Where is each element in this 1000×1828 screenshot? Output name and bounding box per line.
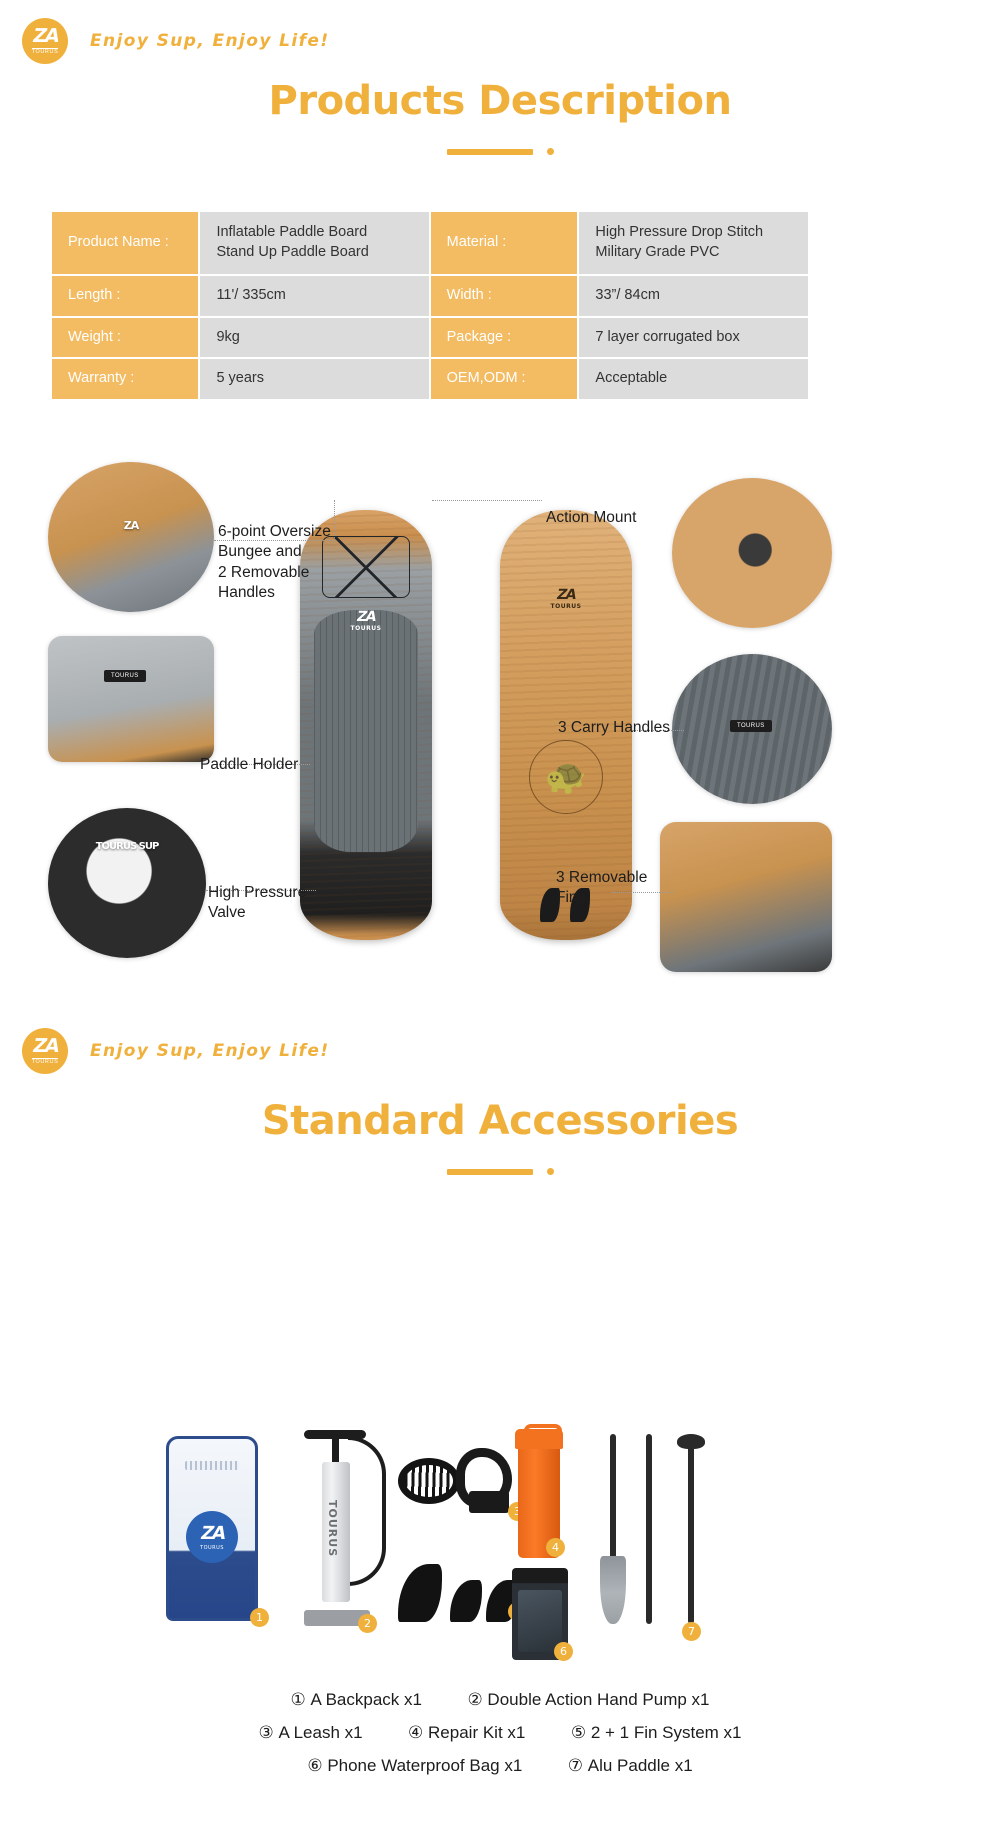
caption-item-3-num: ③ <box>258 1723 273 1743</box>
valve-cap-label: TOURUS SUP <box>96 841 159 852</box>
pump-brand-text: TOURUS <box>326 1500 339 1557</box>
accessory-badge-2: 2 <box>358 1614 377 1633</box>
board-feature-diagram: ZA TOURUS TOURUS SUP TOURUS ZA TOURUS ZA… <box>0 440 1000 1000</box>
tourus-logo-icon-2: ZA TOURUS <box>22 1028 68 1074</box>
spec-key-warranty: Warranty : <box>52 359 198 399</box>
detail-photo-action-mount <box>672 478 832 628</box>
brand-tagline: Enjoy Sup, Enjoy Life! <box>90 31 329 51</box>
spec-key-oem-odm: OEM,ODM : <box>431 359 578 399</box>
brand-tagline-2: Enjoy Sup, Enjoy Life! <box>90 1041 329 1061</box>
spec-key-material: Material : <box>431 212 578 274</box>
paddle-mid-section <box>646 1434 652 1624</box>
board-detail-logo: ZA <box>124 519 139 532</box>
caption-item-3-label: A Leash x1 <box>278 1723 362 1743</box>
divider-dot-2 <box>547 1168 554 1175</box>
pump-hose <box>348 1436 386 1586</box>
spec-value-warranty: 5 years <box>200 359 428 399</box>
paddle-shaft <box>610 1434 616 1562</box>
spec-value-weight: 9kg <box>200 318 428 358</box>
accessories-photo-row: ZA TOURUS 1 TOURUS 2 3 5 <box>0 1430 1000 1680</box>
bungee-cords-graphic <box>322 536 410 598</box>
caption-item-5-label: 2 + 1 Fin System x1 <box>591 1723 742 1743</box>
caption-item-6-num: ⑥ <box>307 1756 322 1776</box>
board-back-logo-text: TOURUS <box>551 604 582 610</box>
accessory-backpack: ZA TOURUS 1 <box>166 1436 258 1621</box>
callout-high-pressure-valve: High Pressure Valve <box>208 883 306 924</box>
turtle-graphic-icon: 🐢 <box>529 740 603 814</box>
accessory-badge-6: 6 <box>554 1642 573 1661</box>
brand-bar-middle: ZA TOURUS Enjoy Sup, Enjoy Life! <box>22 1028 329 1074</box>
spec-value-package: 7 layer corrugated box <box>579 318 808 358</box>
table-row: Product Name : Inflatable Paddle Board S… <box>52 212 808 274</box>
accessories-caption-list: ① A Backpack x1 ② Double Action Hand Pum… <box>0 1690 1000 1789</box>
accessory-paddle-blade <box>600 1434 626 1624</box>
accessory-badge-1: 1 <box>250 1608 269 1627</box>
divider-bar-2 <box>447 1169 533 1175</box>
backpack-logo-text: TOURUS <box>200 1545 224 1551</box>
leash-cuff <box>456 1448 512 1508</box>
paddle-blade <box>600 1556 626 1624</box>
caption-line-3: ⑥ Phone Waterproof Bag x1 ⑦ Alu Paddle x… <box>0 1756 1000 1776</box>
page-title-standard-accessories: Standard Accessories <box>0 1098 1000 1144</box>
backpack-logo: ZA TOURUS <box>186 1511 238 1563</box>
caption-line-2: ③ A Leash x1 ④ Repair Kit x1 ⑤ 2 + 1 Fin… <box>0 1723 1000 1743</box>
callout-carry-handles: 3 Carry Handles <box>558 718 670 738</box>
spec-key-product-name: Product Name : <box>52 212 198 274</box>
board-front-logo-mark: ZA <box>349 610 383 624</box>
detail-photo-fins <box>660 822 832 972</box>
logo-wordmark-2: TOURUS <box>32 1058 59 1066</box>
caption-item-7-label: Alu Paddle x1 <box>588 1756 693 1776</box>
logo-mark: ZA <box>31 27 60 46</box>
caption-line-1: ① A Backpack x1 ② Double Action Hand Pum… <box>0 1690 1000 1710</box>
deck-pad-graphic <box>314 610 418 852</box>
detail-photo-bungee: ZA <box>48 462 214 612</box>
fin-small-1 <box>450 1580 482 1622</box>
accessory-repair-kit: 4 <box>518 1442 560 1558</box>
detail-photo-carry-handle: TOURUS <box>672 654 832 804</box>
accessory-fins: 5 <box>398 1556 530 1622</box>
detail-photo-paddle-holder: TOURUS <box>48 636 214 762</box>
fin-large <box>398 1564 442 1622</box>
spec-value-width: 33”/ 84cm <box>579 276 808 316</box>
backpack-graphic: ZA TOURUS <box>166 1436 258 1621</box>
alu-paddle-graphic <box>600 1434 626 1624</box>
accessory-hand-pump: TOURUS 2 <box>296 1430 382 1626</box>
spec-value-product-name: Inflatable Paddle Board Stand Up Paddle … <box>200 212 428 274</box>
caption-item-4-num: ④ <box>408 1723 423 1743</box>
specification-table: Product Name : Inflatable Paddle Board S… <box>50 210 810 401</box>
backpack-zipper <box>185 1461 239 1470</box>
table-row: Length : 11'/ 335cm Width : 33”/ 84cm <box>52 276 808 316</box>
caption-item-6-label: Phone Waterproof Bag x1 <box>327 1756 522 1776</box>
caption-item-5-num: ⑤ <box>571 1723 586 1743</box>
caption-item-7-num: ⑦ <box>568 1756 583 1776</box>
title-divider-1 <box>0 148 1000 155</box>
board-front-logo: ZA TOURUS <box>351 610 382 632</box>
board-back-logo: ZA TOURUS <box>551 588 582 610</box>
table-row: Warranty : 5 years OEM,ODM : Acceptable <box>52 359 808 399</box>
callout-bungee-handles: 6-point Oversize Bungee and 2 Removable … <box>218 522 331 604</box>
board-front-logo-text: TOURUS <box>351 626 382 632</box>
repair-kit-cap <box>515 1429 563 1449</box>
spec-key-weight: Weight : <box>52 318 198 358</box>
logo-mark-2: ZA <box>31 1037 60 1056</box>
spec-key-width: Width : <box>431 276 578 316</box>
carry-handle-tag-label: TOURUS <box>730 720 772 732</box>
hand-pump-graphic: TOURUS <box>296 1430 382 1626</box>
spec-value-oem-odm: Acceptable <box>579 359 808 399</box>
accessory-leash: 3 <box>398 1440 526 1532</box>
page-title-products-description: Products Description <box>0 78 1000 124</box>
spec-value-length: 11'/ 335cm <box>200 276 428 316</box>
accessory-phone-bag: 6 <box>512 1568 568 1660</box>
phone-bag-window <box>518 1590 562 1652</box>
tourus-logo-icon: ZA TOURUS <box>22 18 68 64</box>
leader-line-vertical <box>334 500 335 542</box>
callout-action-mount: Action Mount <box>546 508 636 528</box>
callout-removable-fins: 3 Removable Fins <box>556 868 647 909</box>
leash-graphic <box>398 1440 526 1532</box>
board-back-logo-mark: ZA <box>549 588 583 602</box>
logo-wordmark: TOURUS <box>32 48 59 56</box>
handle-tag-label: TOURUS <box>104 670 146 682</box>
caption-item-2-num: ② <box>467 1690 482 1710</box>
caption-item-2-label: Double Action Hand Pump x1 <box>487 1690 709 1710</box>
accessory-badge-7: 7 <box>682 1622 701 1641</box>
brand-bar-top: ZA TOURUS Enjoy Sup, Enjoy Life! <box>22 18 329 64</box>
spec-value-material: High Pressure Drop Stitch Military Grade… <box>579 212 808 274</box>
paddle-grip-section <box>688 1434 694 1624</box>
table-row: Weight : 9kg Package : 7 layer corrugate… <box>52 318 808 358</box>
callout-paddle-holder: Paddle Holder <box>200 755 298 775</box>
accessory-paddle-grip: 7 <box>688 1434 694 1624</box>
accessory-badge-4: 4 <box>546 1538 565 1557</box>
divider-dot <box>547 148 554 155</box>
accessory-paddle-shaft-mid <box>646 1434 652 1624</box>
spec-key-package: Package : <box>431 318 578 358</box>
divider-bar <box>447 149 533 155</box>
caption-item-1-num: ① <box>290 1690 305 1710</box>
backpack-logo-mark: ZA <box>198 1523 225 1544</box>
detail-photo-valve: TOURUS SUP <box>48 808 206 958</box>
leash-coil <box>398 1458 460 1504</box>
spec-key-length: Length : <box>52 276 198 316</box>
pump-stem <box>332 1438 339 1464</box>
leader-line <box>432 500 542 501</box>
caption-item-4-label: Repair Kit x1 <box>428 1723 525 1743</box>
title-divider-2 <box>0 1168 1000 1175</box>
caption-item-1-label: A Backpack x1 <box>310 1690 422 1710</box>
